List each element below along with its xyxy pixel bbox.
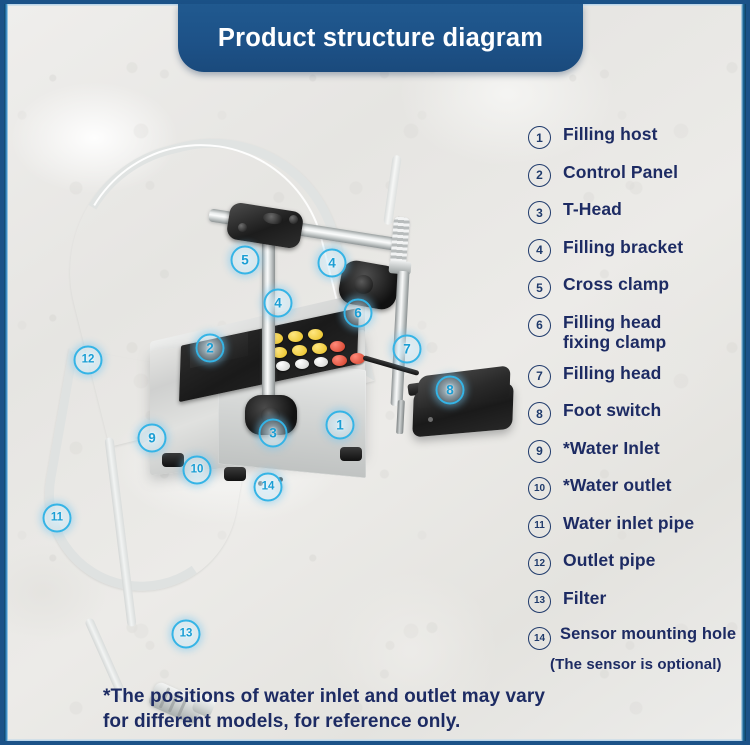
- callout-water-inlet-pipe: 11: [43, 504, 72, 533]
- legend-number: 7: [528, 365, 551, 388]
- filling-head-fixing-clamp-hole: [354, 275, 373, 294]
- left-edge-accent: [4, 4, 8, 741]
- legend-item-cross-clamp: 5 Cross clamp: [528, 274, 742, 299]
- legend-number: 10: [528, 477, 551, 500]
- filling-bracket-post: [262, 235, 275, 410]
- page-title: Product structure diagram: [218, 24, 543, 53]
- legend-number: 14: [528, 627, 551, 650]
- callout-t-head: 3: [259, 419, 288, 448]
- callout-outlet-pipe: 12: [74, 346, 103, 375]
- legend-label: Foot switch: [563, 400, 661, 421]
- legend-number: 3: [528, 201, 551, 224]
- nozzle-feed-tube: [383, 155, 402, 226]
- callout-filling-bracket-lower: 4: [264, 289, 293, 318]
- legend-item-t-head: 3 T-Head: [528, 199, 742, 224]
- legend-item-filling-head-fixing-clamp: 6 Filling head fixing clamp: [528, 312, 742, 353]
- footnote-line-2: for different models, for reference only…: [103, 709, 703, 734]
- cross-clamp-bolt: [238, 223, 247, 232]
- legend-label: Filling host: [563, 124, 658, 145]
- panel-button-yellow[interactable]: [308, 329, 323, 340]
- legend-item-sensor-mounting-hole: 14 Sensor mounting hole: [528, 625, 742, 650]
- legend-item-foot-switch: 8 Foot switch: [528, 400, 742, 425]
- legend-label: Filling bracket: [563, 237, 683, 258]
- callout-control-panel: 2: [196, 334, 225, 363]
- legend-item-filling-head: 7 Filling head: [528, 363, 742, 388]
- machine-foot: [224, 467, 246, 481]
- legend-label: Sensor mounting hole: [560, 625, 736, 644]
- callout-filling-head-fixing-clamp: 6: [344, 299, 373, 328]
- legend-label: Filling head: [563, 312, 666, 333]
- header-banner: Product structure diagram: [178, 4, 583, 72]
- panel-button-yellow[interactable]: [288, 331, 303, 342]
- callout-filling-head: 7: [393, 335, 422, 364]
- product-structure-diagram: Product structure diagram: [0, 0, 750, 745]
- legend-item-filling-bracket: 4 Filling bracket: [528, 237, 742, 262]
- cross-clamp-bolt: [289, 215, 298, 224]
- panel-button-white[interactable]: [295, 359, 309, 369]
- sensor-optional-note: (The sensor is optional): [550, 656, 742, 673]
- panel-button-red[interactable]: [332, 355, 347, 366]
- callout-water-outlet: 10: [183, 456, 212, 485]
- legend-label: Filling head: [563, 363, 661, 384]
- callout-water-inlet: 9: [138, 424, 167, 453]
- legend-number: 9: [528, 440, 551, 463]
- legend-item-filling-host: 1 Filling host: [528, 124, 742, 149]
- legend-label: Control Panel: [563, 162, 678, 183]
- legend-label-line2: fixing clamp: [563, 332, 666, 353]
- legend-label: Outlet pipe: [563, 550, 656, 571]
- legend-item-control-panel: 2 Control Panel: [528, 162, 742, 187]
- callout-filling-host: 1: [326, 411, 355, 440]
- legend-number: 6: [528, 314, 551, 337]
- callout-filter: 13: [172, 620, 201, 649]
- legend-item-water-inlet-pipe: 11 Water inlet pipe: [528, 513, 742, 538]
- panel-button-yellow[interactable]: [292, 345, 307, 356]
- footnote-line-1: *The positions of water inlet and outlet…: [103, 684, 703, 709]
- legend-number: 5: [528, 276, 551, 299]
- product-photo: 12344567891011121314: [10, 95, 520, 675]
- legend-label: Filter: [563, 588, 606, 609]
- legend-label: Water inlet pipe: [563, 513, 694, 534]
- machine-foot: [340, 447, 362, 461]
- machine-foot: [162, 453, 184, 467]
- legend-number: 2: [528, 164, 551, 187]
- legend-number: 12: [528, 552, 551, 575]
- foot-switch-screw: [428, 417, 433, 422]
- legend-number: 11: [528, 515, 551, 538]
- panel-button-white[interactable]: [314, 357, 328, 367]
- legend-label: *Water Inlet: [563, 438, 660, 459]
- legend-number: 4: [528, 239, 551, 262]
- callout-foot-switch: 8: [436, 376, 465, 405]
- footnote: *The positions of water inlet and outlet…: [103, 684, 703, 734]
- callout-cross-clamp: 5: [231, 246, 260, 275]
- legend-item-filter: 13 Filter: [528, 588, 742, 613]
- callout-sensor-mounting-hole: 14: [254, 473, 283, 502]
- legend-item-water-outlet: 10 *Water outlet: [528, 475, 742, 500]
- legend-number: 1: [528, 126, 551, 149]
- legend-label: Cross clamp: [563, 274, 669, 295]
- filling-head-tip: [396, 400, 405, 434]
- legend-label: T-Head: [563, 199, 622, 220]
- panel-button-white[interactable]: [276, 361, 290, 371]
- legend-item-outlet-pipe: 12 Outlet pipe: [528, 550, 742, 575]
- callout-filling-bracket-upper: 4: [318, 249, 347, 278]
- panel-button-red[interactable]: [330, 341, 345, 352]
- legend-list: 1 Filling host 2 Control Panel 3 T-Head …: [528, 124, 742, 683]
- panel-button-yellow[interactable]: [312, 343, 327, 354]
- legend-label: *Water outlet: [563, 475, 672, 496]
- filling-head-barb: [390, 216, 410, 265]
- legend-number: 13: [528, 590, 551, 613]
- legend-number: 8: [528, 402, 551, 425]
- legend-item-water-inlet: 9 *Water Inlet: [528, 438, 742, 463]
